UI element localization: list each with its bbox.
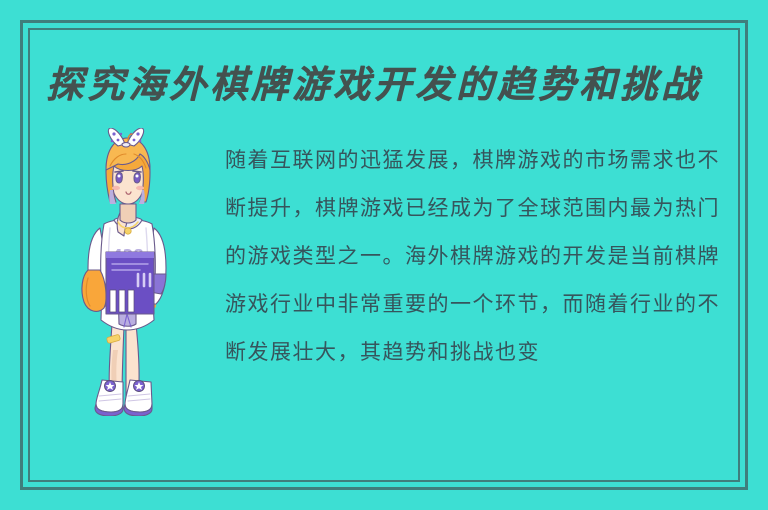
orange-bag xyxy=(82,270,106,311)
eye-right xyxy=(134,173,140,183)
anime-girl-character: 428 xyxy=(66,128,190,416)
poster-canvas: 探究海外棋牌游戏开发的趋势和挑战 随着互联网的迅猛发展，棋牌游戏的市场需求也不断… xyxy=(0,0,768,510)
bow-knot xyxy=(122,143,130,148)
eye-left xyxy=(116,173,122,183)
page-title: 探究海外棋牌游戏开发的趋势和挑战 xyxy=(46,62,706,106)
body-paragraph: 随着互联网的迅猛发展，棋牌游戏的市场需求也不断提升，棋牌游戏已经成为了全球范围内… xyxy=(225,136,737,421)
